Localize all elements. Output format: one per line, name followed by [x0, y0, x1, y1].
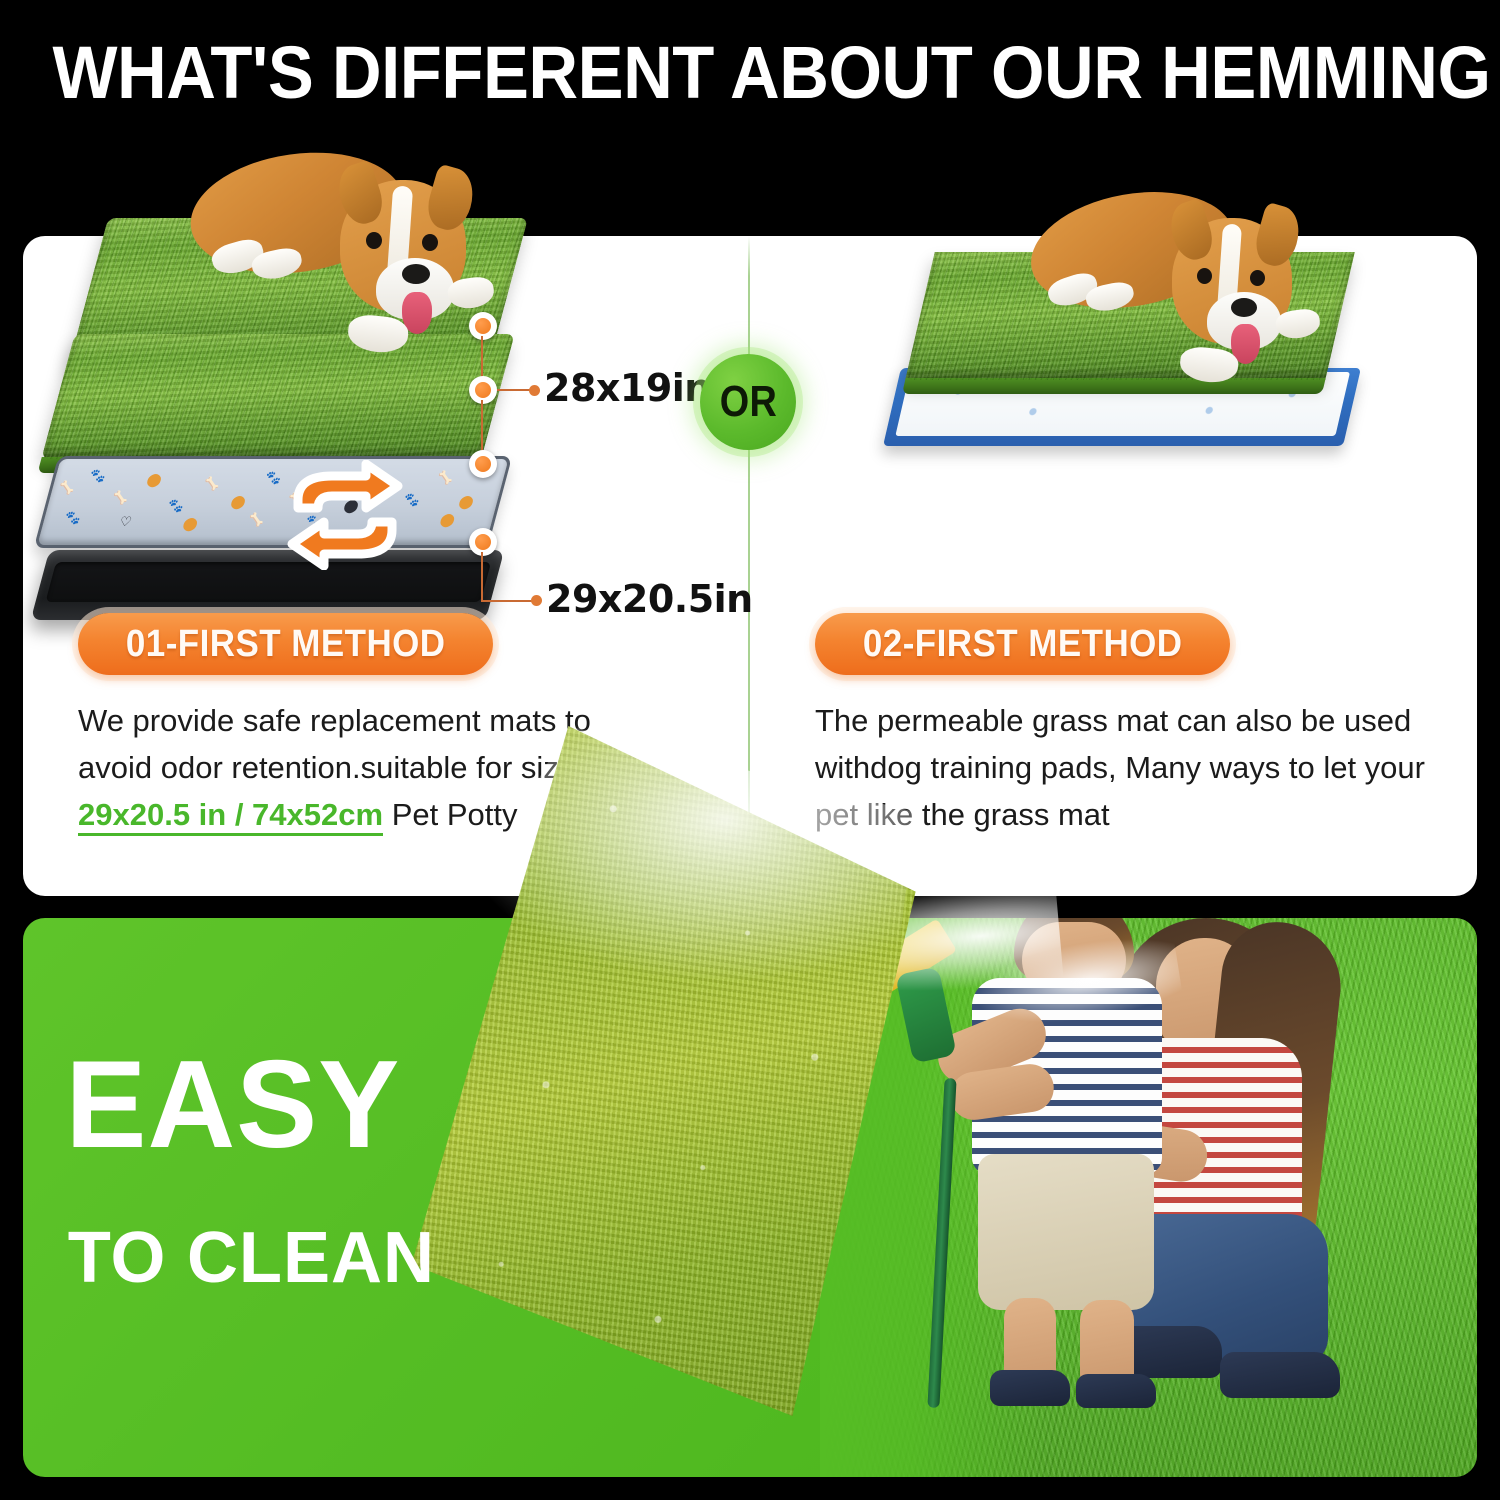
promo-headline: EASY: [65, 1043, 400, 1167]
grass-mat-permeable: [905, 252, 1355, 380]
method-badge-01: 01-FIRST METHOD: [78, 613, 493, 675]
infographic-canvas: WHAT'S DIFFERENT ABOUT OUR HEMMING GRASS…: [0, 0, 1500, 1500]
wet-grass-mat: [378, 726, 938, 1416]
page-title: WHAT'S DIFFERENT ABOUT OUR HEMMING GRASS…: [53, 34, 1448, 112]
callout-label-grass-size: 28x19in: [544, 366, 711, 410]
grass-mat-edge: [902, 378, 1326, 394]
water-mist-overlay: [378, 726, 938, 1085]
callout-tip-dot-icon: [531, 595, 542, 606]
method-01-body-highlight: 29x20.5 in / 74x52cm: [78, 797, 383, 836]
or-badge: OR: [700, 354, 796, 450]
or-badge-label: OR: [719, 377, 777, 427]
grass-mat-replacement: [41, 334, 514, 459]
callout-dot-icon: [469, 376, 497, 404]
callout-dot-icon: [469, 450, 497, 478]
method-badge-02: 02-FIRST METHOD: [815, 613, 1230, 675]
promo-subheadline: TO CLEAN: [68, 1222, 435, 1294]
callout-lead-line: [481, 600, 537, 602]
callout-dot-icon: [469, 528, 497, 556]
callout-label-tray-size: 29x20.5in: [546, 577, 753, 621]
swap-arrows-icon: [280, 460, 410, 570]
patterned-tray-liner: 🦴🐾 🦴⬤ 🐾🦴 ⬤🐾 🦴🐾 ⬤🦴 🐾🦴 ⬤🐾 ♡⬤ 🦴🐾 ♡⬤: [34, 456, 513, 548]
callout-lead-line: [481, 552, 483, 602]
method-badge-01-label: 01-FIRST METHOD: [126, 623, 446, 666]
method-badge-02-label: 02-FIRST METHOD: [863, 623, 1183, 666]
product-grass-over-pad: [880, 200, 1380, 500]
base-tray: [31, 550, 505, 620]
liner-pattern: 🦴🐾 🦴⬤ 🐾🦴 ⬤🐾 🦴🐾 ⬤🦴 🐾🦴 ⬤🐾 ♡⬤ 🦴🐾 ♡⬤: [37, 459, 508, 545]
callout-dot-icon: [469, 312, 497, 340]
callout-tip-dot-icon: [529, 385, 540, 396]
